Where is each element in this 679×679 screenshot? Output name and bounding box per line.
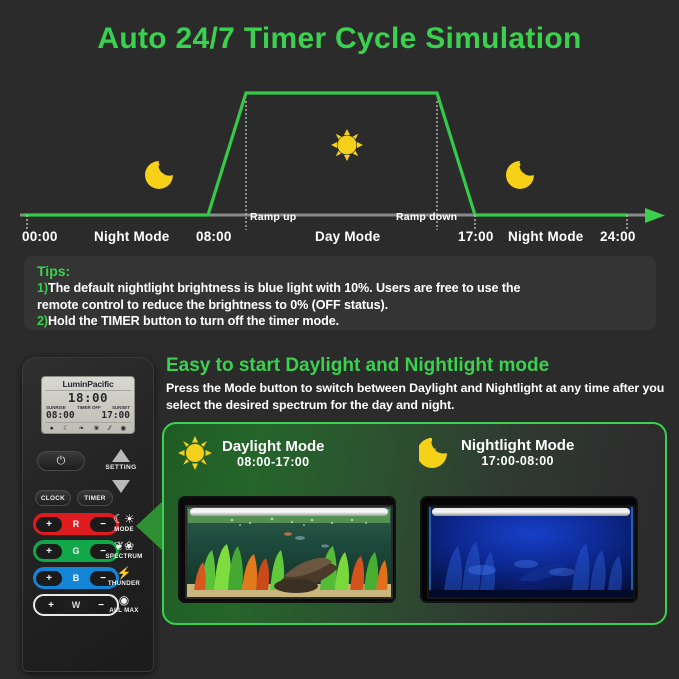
sun-icon <box>331 129 363 161</box>
chart-svg <box>0 84 679 244</box>
ramp-up-label: Ramp up <box>250 211 296 223</box>
nightlight-mode-text: Nightlight Mode 17:00-08:00 <box>461 437 574 468</box>
all-max-icon: ◉ <box>101 594 147 607</box>
fish-icon: ❧ <box>79 424 84 433</box>
brightness-curve <box>24 93 627 215</box>
mode-comparison-card: Daylight Mode 08:00-17:00 Nightlight Mod… <box>162 422 667 625</box>
tips-heading: Tips: <box>37 263 643 280</box>
red-channel-label: R <box>73 519 80 529</box>
tips-item-1-number: 1) <box>37 281 48 295</box>
daylight-aquarium-photo <box>178 496 396 603</box>
ramp-down-label: Ramp down <box>396 211 457 223</box>
section-title: Easy to start Daylight and Nightlight mo… <box>166 355 549 377</box>
lcd-sunset-value: 17:00 <box>101 410 130 421</box>
red-plus-button[interactable]: + <box>36 517 62 532</box>
lcd-icon-row: ● ☾ ❧ ❀ ⁄⁄ ◉ <box>45 422 131 433</box>
nightlight-aquarium-photo <box>420 496 638 603</box>
white-plus-button[interactable]: + <box>38 598 64 613</box>
moon-icon <box>145 161 173 189</box>
segment-label-day: Day Mode <box>315 229 380 244</box>
thunder-button[interactable]: ⚡ THUNDER <box>101 567 147 587</box>
nightlight-mode-name: Nightlight Mode <box>461 437 574 454</box>
lcd-main-time: 18:00 <box>45 391 131 405</box>
moon-icon <box>506 161 534 189</box>
remote-lcd-display: LuminPacific 18:00 SUNRISE TIMER OFF SUN… <box>41 376 135 434</box>
tips-item-2-text: Hold the TIMER button to turn off the ti… <box>48 314 339 328</box>
blue-plus-button[interactable]: + <box>36 571 62 586</box>
spectrum-button-label: SPECTRUM <box>101 553 147 560</box>
timer-button[interactable]: TIMER <box>77 490 113 506</box>
tips-item-2: 2)Hold the TIMER button to turn off the … <box>37 313 643 330</box>
lcd-values-row: 08:00 17:00 <box>45 410 131 421</box>
daylight-mode-time: 08:00-17:00 <box>237 455 310 469</box>
setting-up-button[interactable] <box>112 449 130 462</box>
moon-icon: ☾ <box>63 424 69 433</box>
blue-channel-label: B <box>73 573 80 583</box>
lcd-timer-caption: TIMER OFF <box>77 405 101 410</box>
green-channel-label: G <box>72 546 79 556</box>
page-title: Auto 24/7 Timer Cycle Simulation <box>0 22 679 56</box>
tips-item-1-text-cont: remote control to reduce the brightness … <box>37 298 388 312</box>
segment-label-night-left: Night Mode <box>94 229 170 244</box>
tips-item-1-cont: remote control to reduce the brightness … <box>37 297 643 314</box>
sun-icon <box>178 436 212 470</box>
callout-pointer-icon <box>136 500 164 552</box>
thunder-button-label: THUNDER <box>101 580 147 587</box>
tips-box: Tips: 1)The default nightlight brightnes… <box>24 256 656 330</box>
daylight-mode-text: Daylight Mode 08:00-17:00 <box>222 438 325 469</box>
green-plus-button[interactable]: + <box>36 544 62 559</box>
all-max-button-label: ALL MAX <box>101 607 147 614</box>
lightning-icon: ⁄⁄ <box>109 424 111 433</box>
section-subtitle: Press the Mode button to switch between … <box>166 380 666 413</box>
daylight-mode-name: Daylight Mode <box>222 438 325 455</box>
tick-label-0000: 00:00 <box>22 229 58 244</box>
daylight-mode-header: Daylight Mode 08:00-17:00 <box>178 436 325 470</box>
axis-arrow-icon <box>645 208 665 223</box>
dot-icon: ● <box>50 424 54 433</box>
setting-down-button[interactable] <box>112 480 130 493</box>
tick-label-2400: 24:00 <box>600 229 636 244</box>
tips-item-1-text: The default nightlight brightness is blu… <box>48 281 520 295</box>
lightning-icon: ⚡ <box>101 567 147 580</box>
tips-item-2-number: 2) <box>37 314 48 328</box>
sun-icon: ◉ <box>121 424 127 433</box>
product-infographic: Auto 24/7 Timer Cycle Simulation <box>0 0 679 679</box>
nightlight-mode-header: Nightlight Mode 17:00-08:00 <box>419 436 574 468</box>
tips-item-1: 1)The default nightlight brightness is b… <box>37 280 643 297</box>
segment-label-night-right: Night Mode <box>508 229 584 244</box>
setting-label: SETTING <box>97 464 145 471</box>
timer-cycle-chart: Ramp up Ramp down 00:00 Night Mode 08:00… <box>0 84 679 244</box>
plant-icon: ❀ <box>94 424 99 433</box>
remote-control: LuminPacific 18:00 SUNRISE TIMER OFF SUN… <box>22 357 154 672</box>
power-button[interactable]: ⏻ <box>37 451 85 471</box>
lcd-sunrise-value: 08:00 <box>46 410 75 421</box>
all-max-button[interactable]: ◉ ALL MAX <box>101 594 147 614</box>
power-icon: ⏻ <box>57 455 66 468</box>
nightlight-mode-time: 17:00-08:00 <box>481 454 554 468</box>
moon-icon <box>419 436 451 468</box>
clock-button[interactable]: CLOCK <box>35 490 71 506</box>
white-channel-label: W <box>72 600 81 610</box>
tick-label-1700: 17:00 <box>458 229 494 244</box>
tick-label-0800: 08:00 <box>196 229 232 244</box>
